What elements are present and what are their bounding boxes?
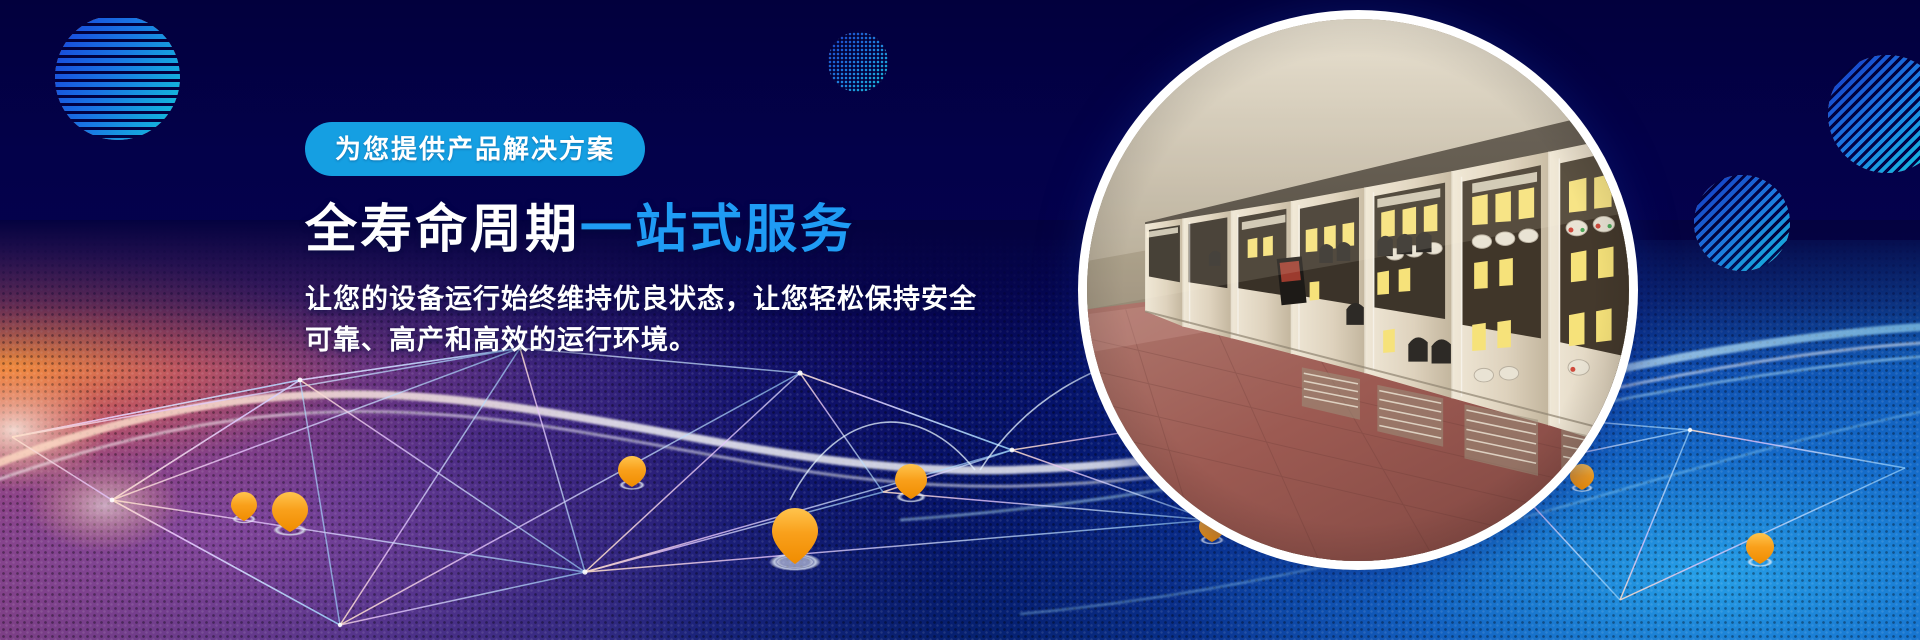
subtitle: 让您的设备运行始终维持优良状态，让您轻松保持安全 可靠、高产和高效的运行环境。	[305, 279, 985, 360]
dotted-circle-small-center	[828, 32, 888, 92]
promo-badge: 为您提供产品解决方案	[305, 122, 645, 176]
striped-circle-large-left	[55, 15, 180, 140]
photo-circle-frame	[1078, 10, 1638, 570]
page-title: 全寿命周期一站式服务	[305, 202, 1005, 259]
striped-circle-right-lower	[1694, 175, 1790, 271]
switchgear-room-photo	[1087, 19, 1629, 561]
map-pin	[231, 492, 257, 524]
map-pin	[272, 492, 308, 536]
map-pin	[769, 508, 821, 571]
map-pin	[618, 456, 646, 490]
headline-accent: 一站式服务	[580, 201, 855, 259]
copy-block: 为您提供产品解决方案 全寿命周期一站式服务 让您的设备运行始终维持优良状态，让您…	[305, 122, 1005, 360]
headline-primary: 全寿命周期	[305, 201, 580, 259]
map-pin	[895, 464, 927, 503]
subtitle-line-2: 可靠、高产和高效的运行环境。	[305, 320, 985, 361]
hero-banner: 为您提供产品解决方案 全寿命周期一站式服务 让您的设备运行始终维持优良状态，让您…	[0, 0, 1920, 640]
subtitle-line-1: 让您的设备运行始终维持优良状态，让您轻松保持安全	[305, 279, 985, 320]
map-pin	[1746, 533, 1774, 567]
